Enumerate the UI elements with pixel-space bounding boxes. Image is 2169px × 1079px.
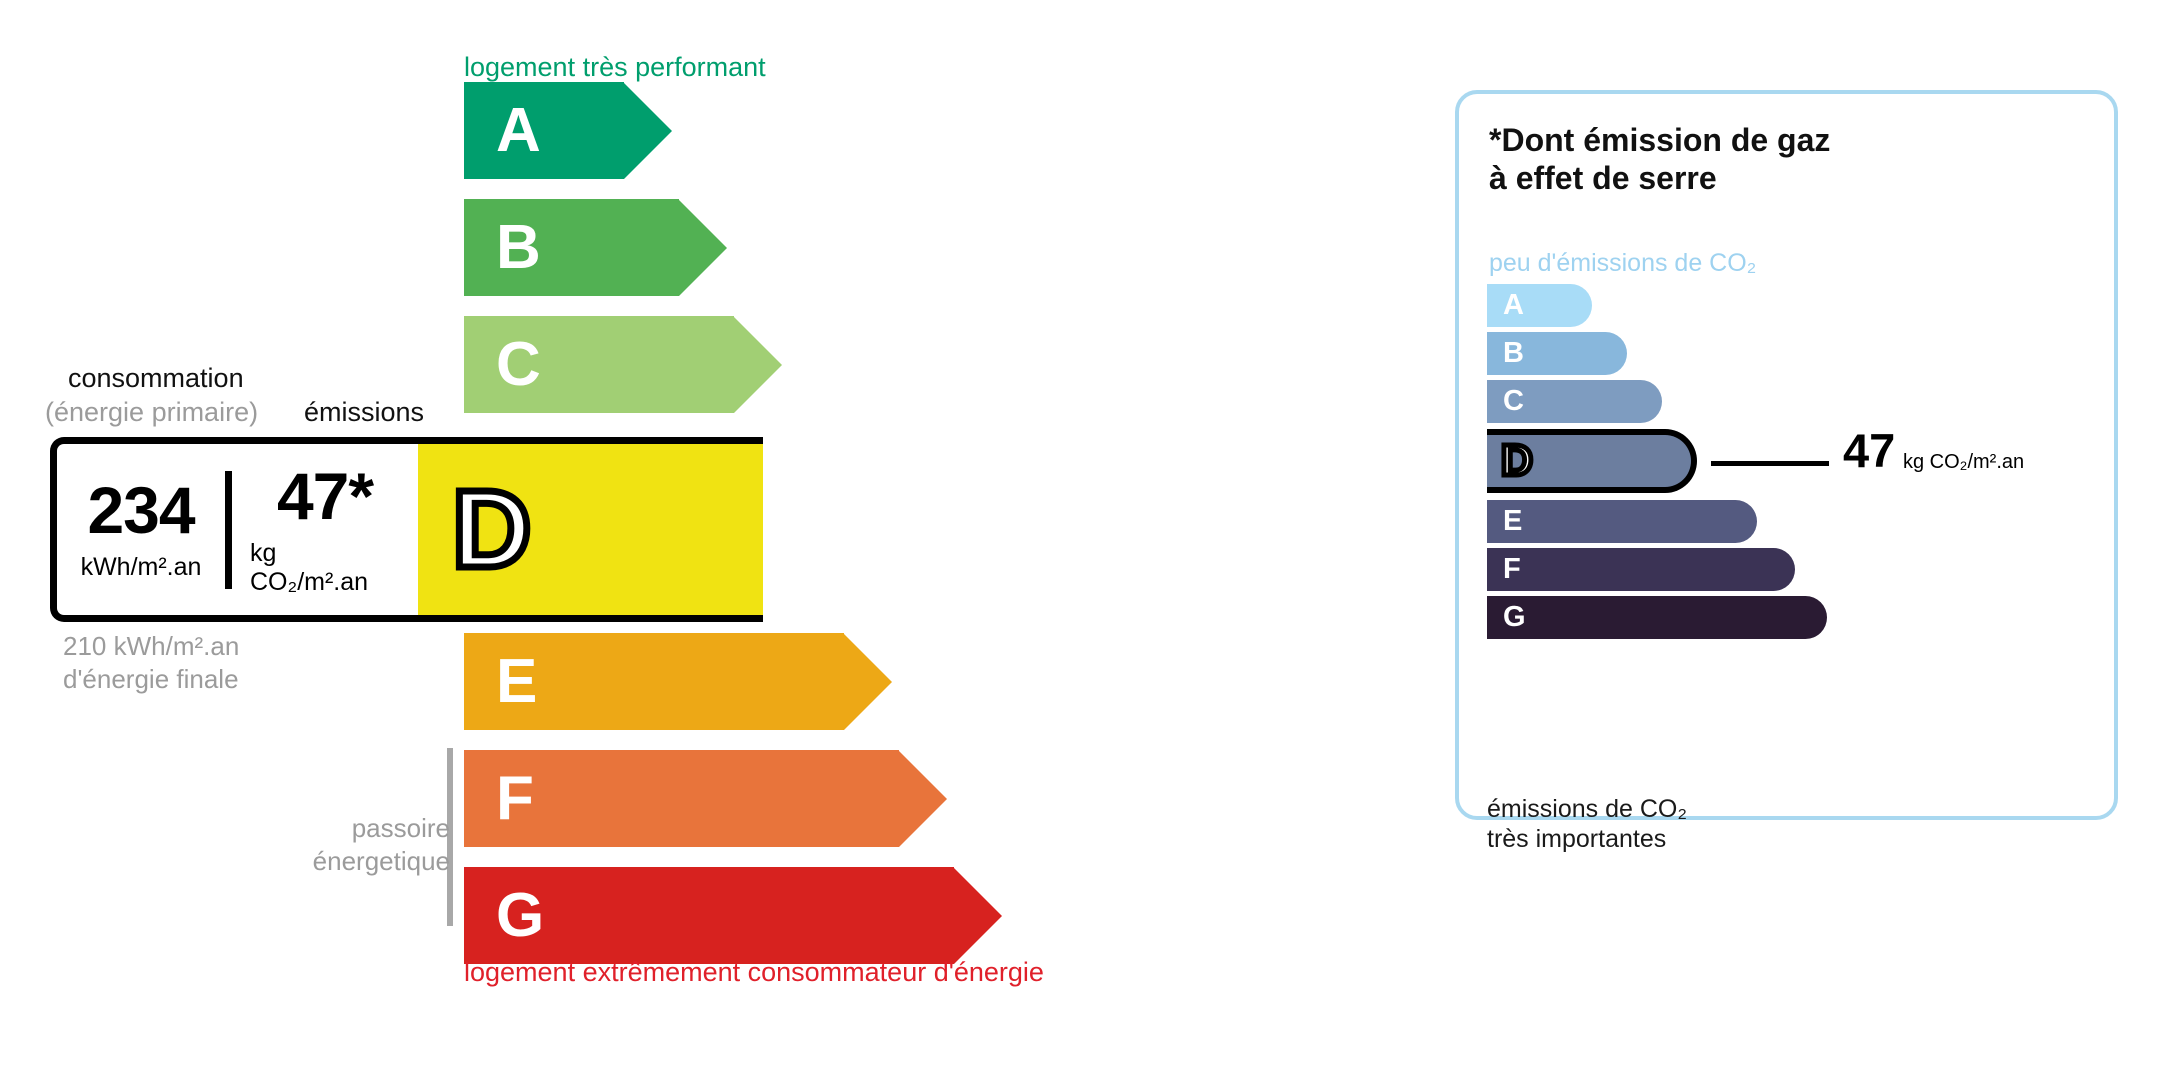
energy-arrow-letter: A [496, 100, 541, 162]
current-class-letter: D [452, 475, 531, 585]
co2-bar-a: A [1487, 284, 1827, 327]
energy-arrow-letter: F [496, 768, 534, 830]
scale-bottom-label: logement extrêmement consommateur d'éner… [464, 957, 1044, 988]
energy-arrow-letter: G [496, 885, 544, 947]
values-box: 234 kWh/m².an 47* kg CO₂/m².an [50, 437, 418, 622]
consumption-sublabel: (énergie primaire) [45, 397, 258, 428]
energy-arrow-letter: E [496, 651, 537, 713]
co2-panel: *Dont émission de gaz à effet de serre p… [1455, 90, 2118, 820]
co2-bar-letter: B [1503, 339, 1524, 368]
final-energy-note: 210 kWh/m².an d'énergie finale [63, 630, 239, 695]
callout-leader-line [1711, 461, 1829, 466]
energy-arrow-c: C [464, 316, 782, 413]
energy-arrow-letter: B [496, 217, 541, 279]
co2-bar-c: C [1487, 380, 1827, 423]
dpe-diagram: logement très performant ABCEFG passoire… [0, 0, 2169, 1079]
co2-bottom-label: émissions de CO₂ très importantes [1487, 794, 1687, 854]
co2-bar-b: B [1487, 332, 1827, 375]
final-energy-line1: 210 kWh/m².an [63, 630, 239, 663]
energy-arrow-f: F [464, 750, 947, 847]
co2-bottom-line2: très importantes [1487, 824, 1687, 854]
emissions-unit: kg CO₂/m².an [250, 539, 400, 597]
co2-bar-letter: A [1503, 291, 1524, 320]
energy-arrow-b: B [464, 199, 727, 296]
passoire-line1: passoire [270, 812, 450, 845]
co2-bar-d: D47kg CO₂/m².an [1487, 429, 1827, 493]
emissions-value-cell: 47* kg CO₂/m².an [232, 463, 418, 597]
emissions-value: 47* [277, 463, 373, 529]
passoire-line2: énergetique [270, 845, 450, 878]
co2-bar-e: E [1487, 500, 1827, 543]
co2-bar-letter: F [1503, 555, 1521, 584]
co2-callout-unit: kg CO₂/m².an [1903, 451, 2024, 474]
co2-bottom-line1: émissions de CO₂ [1487, 794, 1687, 824]
values-divider [225, 471, 232, 589]
energy-scale-panel: logement très performant ABCEFG passoire… [0, 0, 1360, 1079]
co2-title-line1: *Dont émission de gaz [1489, 122, 1830, 160]
consumption-unit: kWh/m².an [81, 553, 202, 582]
co2-bar-f: F [1487, 548, 1827, 591]
current-class-arrow: D [418, 437, 763, 622]
co2-callout-value: 47 [1843, 427, 1895, 474]
scale-top-label: logement très performant [464, 52, 766, 83]
co2-bar-g: G [1487, 596, 1827, 639]
co2-bar-letter: G [1503, 603, 1526, 632]
consumption-value: 234 [87, 477, 194, 543]
energy-arrow-a: A [464, 82, 672, 179]
co2-top-label: peu d'émissions de CO₂ [1489, 249, 1756, 278]
consumption-label: consommation [68, 363, 244, 394]
consumption-value-cell: 234 kWh/m².an [57, 477, 225, 582]
energy-arrow-e: E [464, 633, 892, 730]
passoire-label: passoire énergetique [270, 812, 450, 877]
final-energy-line2: d'énergie finale [63, 663, 239, 696]
emissions-label: émissions [304, 397, 424, 428]
co2-bar-letter: D [1501, 439, 1533, 483]
energy-arrow-g: G [464, 867, 1002, 964]
current-rating-row: 234 kWh/m².an 47* kg CO₂/m².an D [50, 437, 763, 622]
co2-bar-letter: E [1503, 507, 1522, 536]
co2-panel-title: *Dont émission de gaz à effet de serre [1489, 122, 1830, 198]
energy-arrow-letter: C [496, 334, 541, 396]
co2-bar-list: ABCD47kg CO₂/m².anEFG [1487, 284, 1827, 644]
co2-bar-letter: C [1503, 387, 1524, 416]
co2-title-line2: à effet de serre [1489, 160, 1830, 198]
